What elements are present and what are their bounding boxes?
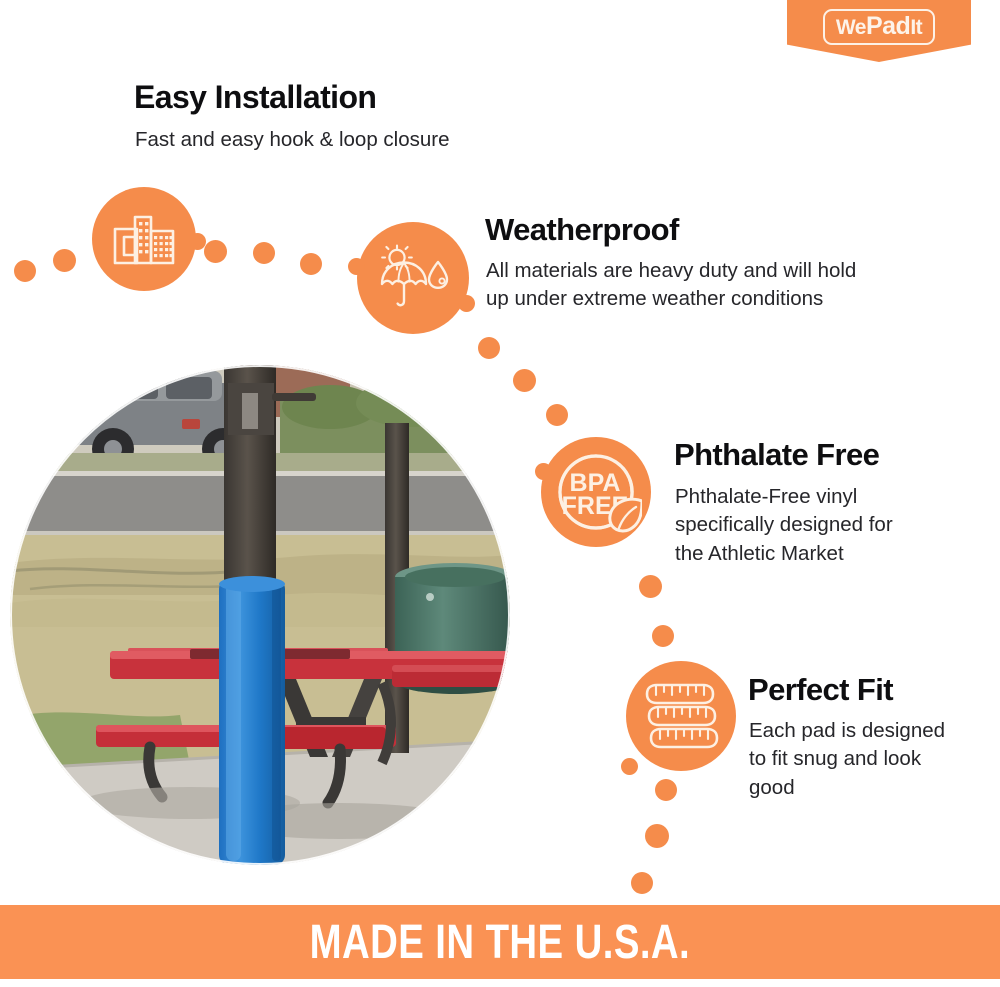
trail-dot: [652, 625, 674, 647]
feature-icon-perfect-fit: [626, 661, 736, 771]
product-photo-illustration: [10, 365, 510, 865]
trail-dot: [53, 249, 76, 272]
made-in-usa-text: MADE IN THE U.S.A.: [310, 915, 691, 970]
feature-icon-easy-installation: [92, 187, 196, 291]
bpa-free-leaf-icon: BPA FREE: [550, 446, 642, 538]
trail-dot: [655, 779, 677, 801]
trail-dot: [631, 872, 653, 894]
feature-icon-weatherproof: [357, 222, 469, 334]
trail-dot: [478, 337, 500, 359]
trail-dot: [253, 242, 275, 264]
trail-dot: [14, 260, 36, 282]
logo-text-pad: Pad: [866, 14, 910, 39]
trail-nub: [189, 233, 206, 250]
feature-title-easy-installation: Easy Installation: [134, 81, 376, 115]
feature-desc-weatherproof: All materials are heavy duty and will ho…: [486, 257, 856, 314]
trail-dot: [204, 240, 227, 263]
umbrella-sun-raindrop-icon: [376, 244, 450, 312]
logo-text-it: It: [910, 17, 922, 38]
trail-nub: [458, 295, 475, 312]
feature-desc-phthalate-free: Phthalate-Free vinyl specifically design…: [675, 483, 893, 568]
trail-dot: [546, 404, 568, 426]
product-photo: [10, 365, 510, 865]
feature-desc-perfect-fit: Each pad is designed to fit snug and loo…: [749, 717, 945, 802]
trail-nub: [535, 463, 552, 480]
feature-title-perfect-fit: Perfect Fit: [748, 674, 893, 707]
trail-nub: [348, 258, 365, 275]
trail-nub: [621, 758, 638, 775]
logo-text-we: We: [836, 17, 866, 38]
trail-dot: [513, 369, 536, 392]
infographic-canvas: WePadIt Easy Installation Fast and easy …: [0, 0, 1000, 987]
trail-dot: [645, 824, 669, 848]
feature-icon-phthalate-free: BPA FREE: [541, 437, 651, 547]
brand-logo-banner: WePadIt: [787, 0, 971, 62]
feature-title-weatherproof: Weatherproof: [485, 214, 679, 247]
trail-dot: [300, 253, 322, 275]
feature-desc-easy-installation: Fast and easy hook & loop closure: [135, 126, 450, 154]
measuring-tape-icon: [641, 678, 721, 754]
feature-title-phthalate-free: Phthalate Free: [674, 439, 879, 472]
brand-logo-box: WePadIt: [823, 9, 935, 45]
made-in-usa-banner: MADE IN THE U.S.A.: [0, 905, 1000, 979]
building-icon: [113, 213, 175, 265]
trail-dot: [639, 575, 662, 598]
